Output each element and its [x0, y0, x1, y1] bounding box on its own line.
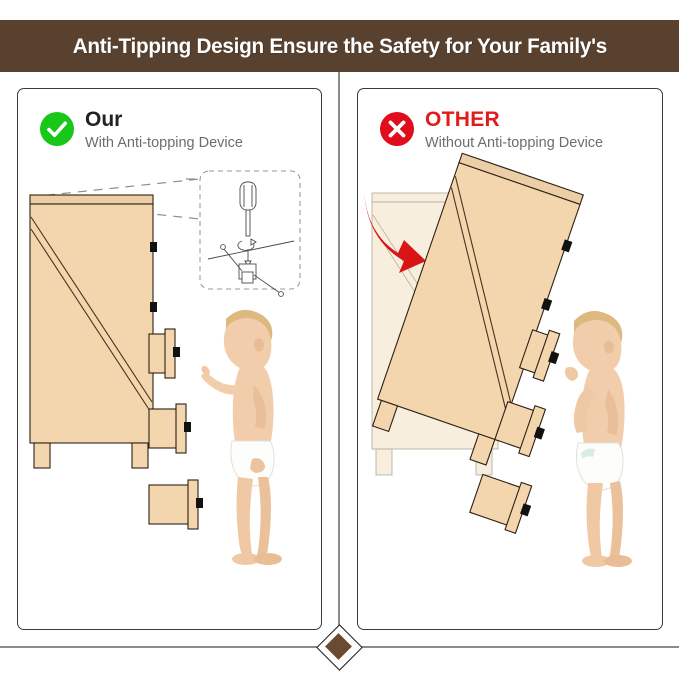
infographic-canvas: Anti-Tipping Design Ensure the Safety fo… — [0, 0, 679, 679]
arm-reaching — [201, 374, 240, 395]
hardware-inset — [200, 171, 300, 296]
dresser-carcass — [30, 195, 153, 468]
toddler-standing — [548, 301, 658, 581]
torso — [233, 367, 274, 447]
head — [573, 320, 622, 373]
head — [224, 318, 272, 371]
panel-our: Our With Anti-topping Device — [17, 88, 322, 630]
drawer-bottom — [149, 480, 203, 529]
drawer-middle — [149, 404, 191, 453]
drawer-bottom — [468, 470, 537, 536]
fist — [565, 367, 578, 381]
drawer-top — [149, 329, 180, 378]
torso — [582, 369, 625, 449]
toddler-standing — [196, 301, 306, 581]
header-banner: Anti-Tipping Design Ensure the Safety fo… — [0, 20, 679, 72]
page-title: Anti-Tipping Design Ensure the Safety fo… — [72, 34, 606, 59]
panel-other: OTHER Without Anti-topping Device — [357, 88, 663, 630]
hand — [201, 366, 209, 375]
panel-divider — [338, 72, 340, 648]
diamond-ornament — [311, 626, 368, 668]
